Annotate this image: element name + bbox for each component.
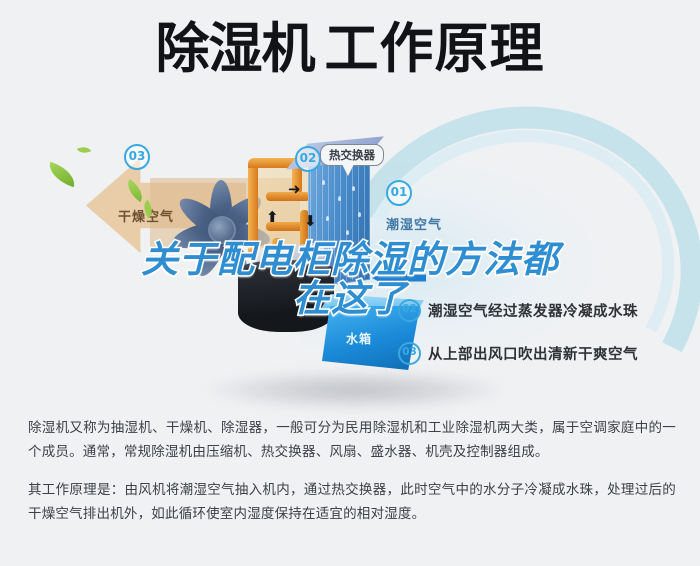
ground-shadow — [205, 370, 505, 410]
badge-01: 01 — [386, 180, 412, 206]
infographic-page: 除湿机工作原理 干燥空气 — [0, 0, 700, 566]
legend-badge-02: 02 — [398, 299, 421, 322]
copper-pipe — [248, 164, 258, 260]
flow-arrow-up-icon: ⬆ — [266, 210, 279, 225]
humid-air-label: 潮湿空气 — [386, 214, 442, 233]
flow-arrow-right-icon: ➜ — [288, 182, 301, 197]
page-title-part-b: 工作原理 — [325, 22, 545, 76]
compressor-body — [238, 268, 334, 332]
legend-badge-03: 03 — [398, 342, 421, 365]
body-copy: 除湿机又称为抽湿机、干燥机、除湿器，一般可分为民用除湿机和工业除湿机两大类，属于… — [28, 416, 676, 526]
callout-tail — [342, 164, 354, 176]
badge-03: 03 — [124, 144, 150, 170]
fan-hub — [208, 216, 236, 244]
body-paragraph-1: 除湿机又称为抽湿机、干燥机、除湿器，一般可分为民用除湿机和工业除湿机两大类，属于… — [28, 416, 676, 464]
legend-text-02: 潮湿空气经过蒸发器冷凝成水珠 — [428, 300, 638, 321]
legend-text-03: 从上部出风口吹出清新干爽空气 — [428, 343, 638, 364]
body-paragraph-2: 其工作原理是：由风机将潮湿空气抽入机内，通过热交换器，此时空气中的水分子冷凝成水… — [28, 478, 676, 526]
water-tank-label: 水箱 — [346, 330, 372, 347]
page-title-part-a: 除湿机 — [156, 22, 315, 76]
badge-02: 02 — [295, 146, 321, 172]
leaf-icon — [45, 162, 79, 187]
page-title: 除湿机工作原理 — [0, 22, 700, 76]
heat-exchanger-callout: 热交换器 — [320, 144, 384, 166]
legend-item-02: 02 潮湿空气经过蒸发器冷凝成水珠 — [398, 299, 688, 322]
leaf-icon — [77, 144, 91, 156]
legend-item-03: 03 从上部出风口吹出清新干爽空气 — [398, 342, 688, 365]
flow-arrow-down-icon: ⬇ — [304, 214, 317, 229]
